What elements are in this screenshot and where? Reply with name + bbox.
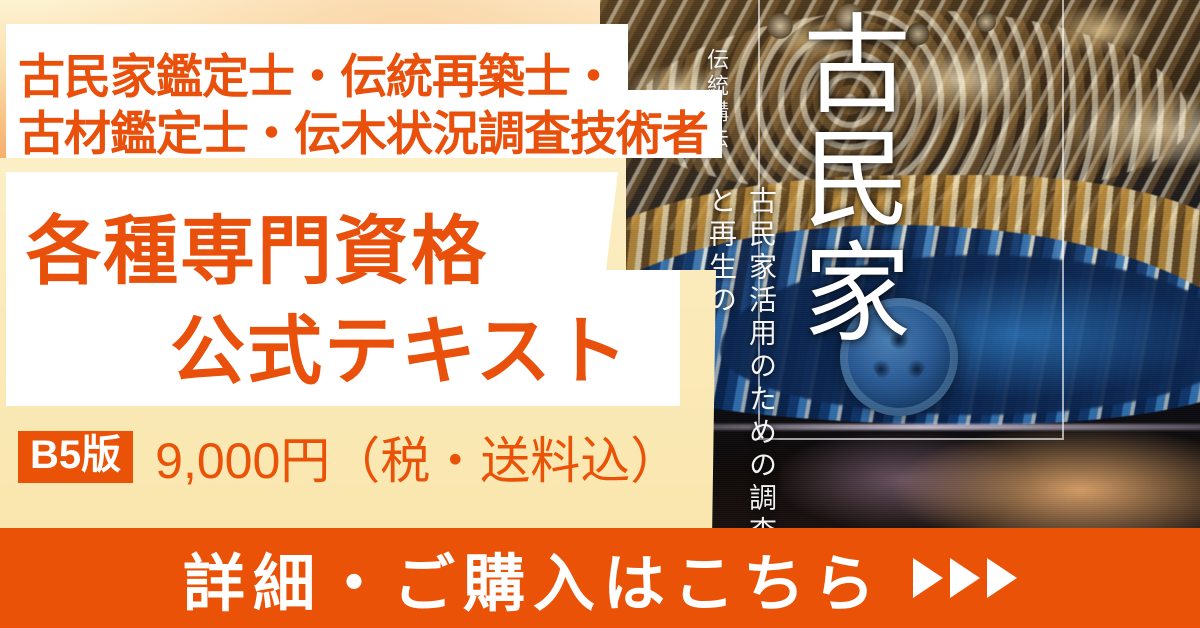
price-row: B5版 9,000円（税・送料込） [18, 421, 680, 493]
catch-copy-line-2: 公式テキスト [170, 290, 630, 399]
cta-bar[interactable]: 詳細・ご購入はこちら [0, 528, 1200, 628]
triangle-right-icon [987, 558, 1017, 598]
cta-arrows [913, 558, 1017, 598]
promo-banner[interactable]: 伝統構法 古民家活用のための調査と再生の 古民家 各種専門資格 公式テキスト 古… [0, 0, 1200, 628]
price-amount: 9,000円（税・送料込） [155, 421, 680, 493]
catch-copy-line-1: 各種専門資格 [26, 190, 488, 299]
cta-label: 詳細・ご購入はこちら [183, 533, 883, 623]
triangle-right-icon [913, 558, 943, 598]
triangle-right-icon [950, 558, 980, 598]
cover-title: 古民家 [790, 8, 910, 350]
format-badge: B5版 [18, 431, 133, 483]
headline-line-2: 古材鑑定士・伝木状況調査技術者 [18, 95, 708, 164]
